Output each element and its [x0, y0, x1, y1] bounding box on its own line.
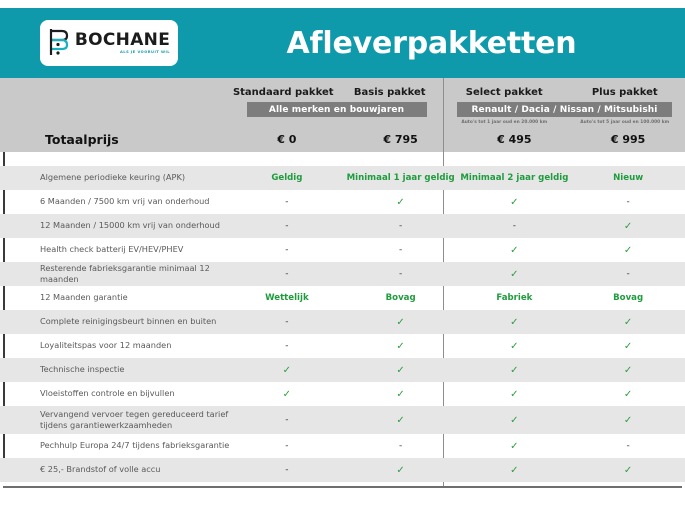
feature-label: 6 Maanden / 7500 km vrij van onderhoud [0, 196, 230, 207]
dash-icon: - [230, 245, 344, 256]
feature-label: Resterende fabrieksgarantie minimaal 12 … [0, 263, 230, 285]
total-price-plus: € 995 [571, 133, 685, 146]
feature-label: Algemene periodieke keuring (APK) [0, 172, 230, 183]
page-title: Afleverpakketten [178, 8, 685, 78]
check-icon: ✓ [458, 269, 572, 280]
brand-name: BOCHANE [75, 32, 170, 49]
feature-row-list: Algemene periodieke keuring (APK)GeldigM… [0, 152, 685, 500]
dash-icon: - [230, 221, 344, 232]
check-icon: ✓ [344, 341, 458, 352]
feature-label: Loyaliteitspas voor 12 maanden [0, 340, 230, 351]
dash-icon: - [230, 197, 344, 208]
package-titles-right: Select pakket Plus pakket [444, 78, 685, 98]
table-row: Technische inspectie✓✓✓✓ [0, 358, 685, 382]
table-row: Loyaliteitspas voor 12 maanden-✓✓✓ [0, 334, 685, 358]
check-icon: ✓ [344, 317, 458, 328]
feature-values: ---✓ [230, 221, 685, 232]
check-icon: ✓ [458, 317, 572, 328]
total-price-label: Totaalprijs [45, 132, 119, 147]
table-row: 6 Maanden / 7500 km vrij van onderhoud-✓… [0, 190, 685, 214]
feature-values: --✓- [230, 441, 685, 452]
feature-values: -✓✓✓ [230, 341, 685, 352]
check-icon: ✓ [458, 245, 572, 256]
feature-label: 12 Maanden / 15000 km vrij van onderhoud [0, 220, 230, 231]
check-icon: ✓ [571, 365, 685, 376]
table-bottom-spacer [0, 482, 685, 500]
table-row: 12 Maanden garantieWettelijkBovagFabriek… [0, 286, 685, 310]
feature-values: -✓✓✓ [230, 415, 685, 426]
pricing-comparison-page: BOCHANE ALS JE VOORUIT WIL Afleverpakket… [0, 0, 685, 514]
package-titles-left: Standaard pakket Basis pakket [230, 78, 443, 98]
check-icon: ✓ [344, 389, 458, 400]
dash-icon: - [571, 269, 685, 280]
feature-values: ✓✓✓✓ [230, 365, 685, 376]
table-bottom-rule [3, 486, 682, 488]
check-icon: ✓ [571, 245, 685, 256]
feature-value-text: Bovag [571, 293, 685, 303]
check-icon: ✓ [571, 317, 685, 328]
check-icon: ✓ [571, 465, 685, 476]
group-banner-left: Alle merken en bouwjaren [247, 102, 427, 117]
feature-value-text: Minimaal 2 jaar geldig [458, 173, 572, 183]
check-icon: ✓ [571, 341, 685, 352]
package-notes-left [230, 120, 443, 127]
dash-icon: - [230, 441, 344, 452]
feature-label: € 25,- Brandstof of volle accu [0, 464, 230, 475]
feature-value-text: Nieuw [571, 173, 685, 183]
dash-icon: - [344, 245, 458, 256]
feature-values: -✓✓- [230, 197, 685, 208]
group-banner-right: Renault / Dacia / Nissan / Mitsubishi [457, 102, 672, 117]
check-icon: ✓ [458, 341, 572, 352]
check-icon: ✓ [344, 197, 458, 208]
dash-icon: - [344, 269, 458, 280]
table-row: € 25,- Brandstof of volle accu-✓✓✓ [0, 458, 685, 482]
package-notes-right: Auto's tot 1 jaar oud en 20.000 km Auto'… [444, 120, 685, 125]
total-price-basis: € 795 [344, 133, 458, 146]
package-title-plus[interactable]: Plus pakket [565, 87, 685, 98]
feature-values: WettelijkBovagFabriekBovag [230, 293, 685, 303]
feature-label: 12 Maanden garantie [0, 292, 230, 303]
dash-icon: - [571, 441, 685, 452]
check-icon: ✓ [344, 365, 458, 376]
feature-label: Vervangend vervoer tegen gereduceerd tar… [0, 409, 230, 431]
dash-icon: - [230, 465, 344, 476]
table-row: Vloeistoffen controle en bijvullen✓✓✓✓ [0, 382, 685, 406]
table-row: Vervangend vervoer tegen gereduceerd tar… [0, 406, 685, 434]
feature-table: Algemene periodieke keuring (APK)GeldigM… [0, 152, 685, 490]
check-icon: ✓ [571, 221, 685, 232]
check-icon: ✓ [458, 441, 572, 452]
brand-tagline: ALS JE VOORUIT WIL [120, 51, 170, 55]
feature-values: -✓✓✓ [230, 465, 685, 476]
check-icon: ✓ [458, 389, 572, 400]
feature-label: Pechhulp Europa 24/7 tijdens fabrieksgar… [0, 440, 230, 451]
bochane-b-mark-icon [48, 28, 70, 58]
table-top-spacer [0, 152, 685, 166]
feature-label: Vloeistoffen controle en bijvullen [0, 388, 230, 399]
feature-values: GeldigMinimaal 1 jaar geldigMinimaal 2 j… [230, 173, 685, 183]
check-icon: ✓ [571, 415, 685, 426]
total-price-row: Totaalprijs € 0 € 795 € 495 € 995 [0, 128, 685, 152]
feature-label: Complete reinigingsbeurt binnen en buite… [0, 316, 230, 327]
dash-icon: - [230, 341, 344, 352]
feature-values: ✓✓✓✓ [230, 389, 685, 400]
package-note-select: Auto's tot 1 jaar oud en 20.000 km [444, 120, 565, 125]
check-icon: ✓ [344, 465, 458, 476]
check-icon: ✓ [230, 365, 344, 376]
feature-value-text: Fabriek [458, 293, 572, 303]
check-icon: ✓ [458, 465, 572, 476]
table-row: Algemene periodieke keuring (APK)GeldigM… [0, 166, 685, 190]
feature-label: Health check batterij EV/HEV/PHEV [0, 244, 230, 255]
feature-values: --✓- [230, 269, 685, 280]
table-row: 12 Maanden / 15000 km vrij van onderhoud… [0, 214, 685, 238]
package-title-standaard[interactable]: Standaard pakket [230, 87, 337, 98]
table-row: Pechhulp Europa 24/7 tijdens fabrieksgar… [0, 434, 685, 458]
page-header: BOCHANE ALS JE VOORUIT WIL Afleverpakket… [0, 8, 685, 78]
table-row: Health check batterij EV/HEV/PHEV--✓✓ [0, 238, 685, 262]
dash-icon: - [344, 441, 458, 452]
feature-values: --✓✓ [230, 245, 685, 256]
feature-label: Technische inspectie [0, 364, 230, 375]
table-row: Complete reinigingsbeurt binnen en buite… [0, 310, 685, 334]
dash-icon: - [344, 221, 458, 232]
check-icon: ✓ [571, 389, 685, 400]
check-icon: ✓ [458, 365, 572, 376]
check-icon: ✓ [458, 415, 572, 426]
feature-value-text: Geldig [230, 173, 344, 183]
feature-values: -✓✓✓ [230, 317, 685, 328]
dash-icon: - [230, 269, 344, 280]
table-row: Resterende fabrieksgarantie minimaal 12 … [0, 262, 685, 286]
total-price-select: € 495 [458, 133, 572, 146]
dash-icon: - [230, 415, 344, 426]
check-icon: ✓ [458, 197, 572, 208]
feature-value-text: Minimaal 1 jaar geldig [344, 173, 458, 183]
package-note-plus: Auto's tot 5 jaar oud en 100.000 km [565, 120, 685, 125]
feature-value-text: Wettelijk [230, 293, 344, 303]
package-title-select[interactable]: Select pakket [444, 87, 565, 98]
bochane-logo[interactable]: BOCHANE ALS JE VOORUIT WIL [40, 20, 178, 66]
bochane-logo-text: BOCHANE ALS JE VOORUIT WIL [75, 32, 170, 55]
total-price-standaard: € 0 [230, 133, 344, 146]
package-title-basis[interactable]: Basis pakket [337, 87, 444, 98]
dash-icon: - [230, 317, 344, 328]
total-price-values: € 0 € 795 € 495 € 995 [230, 133, 685, 146]
check-icon: ✓ [344, 415, 458, 426]
check-icon: ✓ [230, 389, 344, 400]
feature-value-text: Bovag [344, 293, 458, 303]
dash-icon: - [571, 197, 685, 208]
dash-icon: - [458, 221, 572, 232]
